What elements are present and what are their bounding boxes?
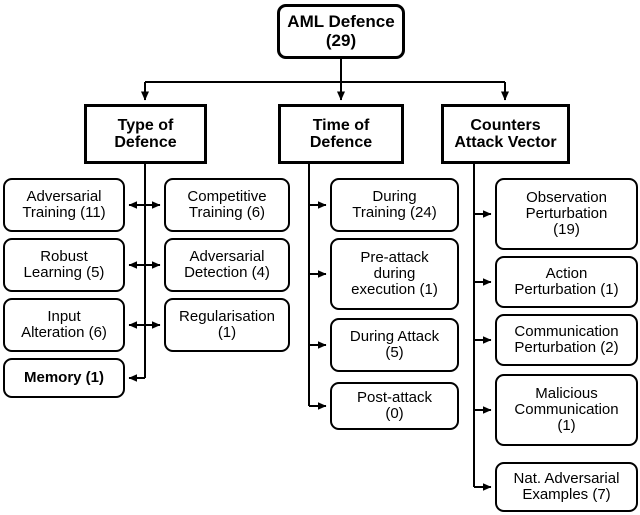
diagram-canvas: AML Defence (29) Type of Defence Time of… — [0, 0, 640, 515]
node-during-training[interactable]: During Training (24) — [330, 178, 459, 232]
node-competitive-training[interactable]: Competitive Training (6) — [164, 178, 290, 232]
node-pre-attack-during-execution[interactable]: Pre-attack during execution (1) — [330, 238, 459, 310]
node-aml-defence[interactable]: AML Defence (29) — [277, 4, 405, 59]
node-communication-perturbation[interactable]: Communication Perturbation (2) — [495, 314, 638, 366]
node-during-attack[interactable]: During Attack (5) — [330, 318, 459, 372]
node-malicious-communication[interactable]: Malicious Communication (1) — [495, 374, 638, 446]
node-memory[interactable]: Memory (1) — [3, 358, 125, 398]
node-observation-perturbation[interactable]: Observation Perturbation (19) — [495, 178, 638, 250]
node-regularisation[interactable]: Regularisation (1) — [164, 298, 290, 352]
node-time-of-defence[interactable]: Time of Defence — [278, 104, 404, 164]
node-adversarial-detection[interactable]: Adversarial Detection (4) — [164, 238, 290, 292]
node-counters-attack-vector[interactable]: Counters Attack Vector — [441, 104, 570, 164]
node-adversarial-training[interactable]: Adversarial Training (11) — [3, 178, 125, 232]
node-robust-learning[interactable]: Robust Learning (5) — [3, 238, 125, 292]
node-action-perturbation[interactable]: Action Perturbation (1) — [495, 256, 638, 308]
node-type-of-defence[interactable]: Type of Defence — [84, 104, 207, 164]
node-input-alteration[interactable]: Input Alteration (6) — [3, 298, 125, 352]
node-post-attack[interactable]: Post-attack (0) — [330, 382, 459, 430]
node-nat-adversarial-examples[interactable]: Nat. Adversarial Examples (7) — [495, 462, 638, 512]
